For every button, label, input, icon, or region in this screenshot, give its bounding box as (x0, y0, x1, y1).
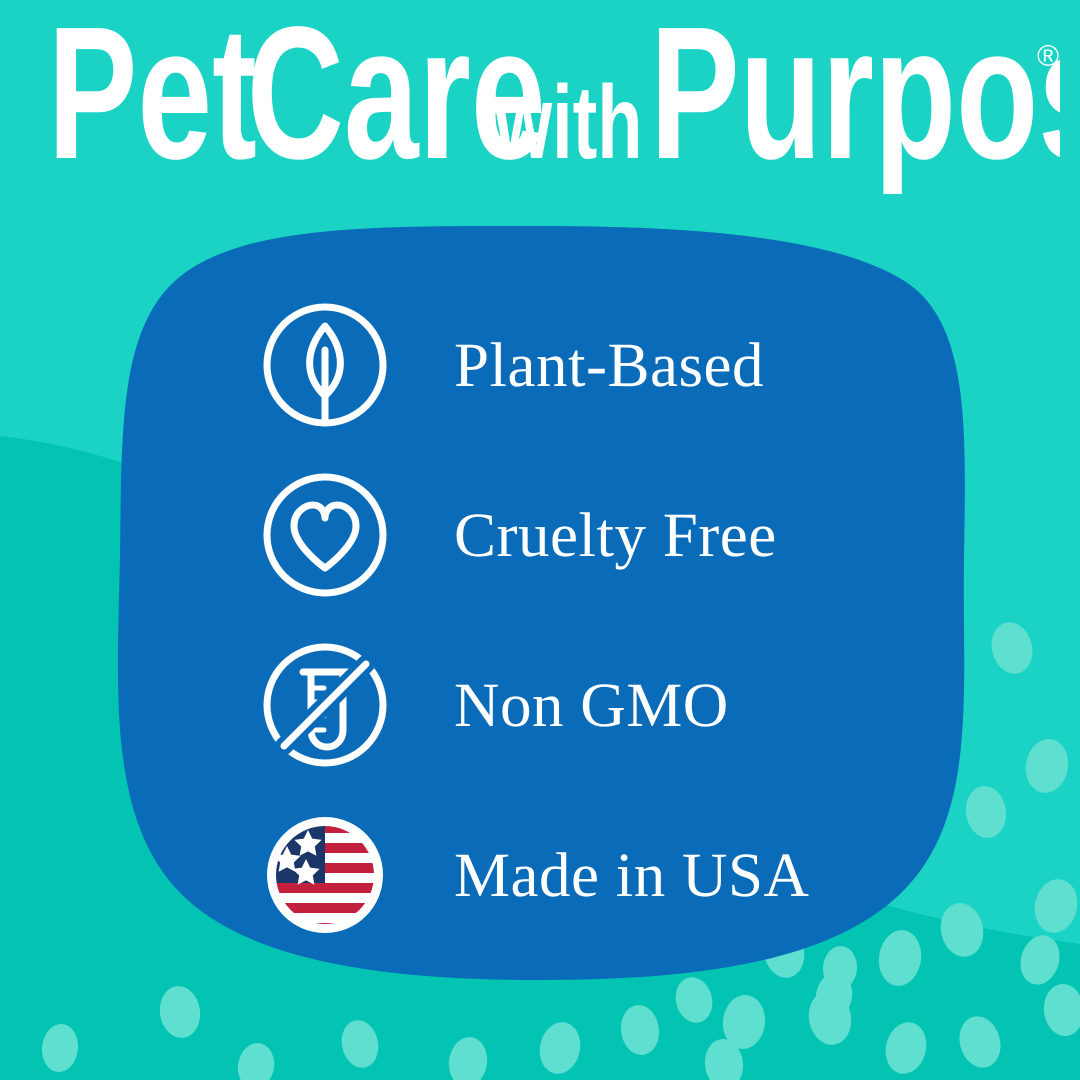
headline-artwork: Pet Care with Purpose ® (20, 14, 1060, 194)
list-item-label: Made in USA (454, 844, 809, 907)
registered-trademark-icon: ® (1037, 40, 1059, 73)
leaf-circle-icon (258, 298, 392, 432)
usa-flag-circle-icon (258, 808, 392, 942)
list-item: Non GMO (258, 620, 898, 790)
benefits-list: Plant-Based Cruelty Free (258, 280, 898, 960)
list-item-label: Non GMO (454, 674, 729, 737)
list-item: Cruelty Free (258, 450, 898, 620)
list-item-label: Plant-Based (454, 334, 764, 397)
heart-circle-icon (258, 468, 392, 602)
headline-word-purpose: Purpose (650, 14, 1060, 194)
list-item: Made in USA (258, 790, 898, 960)
poster-canvas: Pet Care with Purpose ® Plant-Based (0, 0, 1080, 1080)
page-title: Pet Care with Purpose ® (0, 14, 1080, 194)
headline-word-pet: Pet (48, 14, 257, 194)
headline-word-with: with (494, 65, 643, 181)
no-test-tube-icon (258, 638, 392, 772)
list-item: Plant-Based (258, 280, 898, 450)
list-item-label: Cruelty Free (454, 504, 777, 567)
